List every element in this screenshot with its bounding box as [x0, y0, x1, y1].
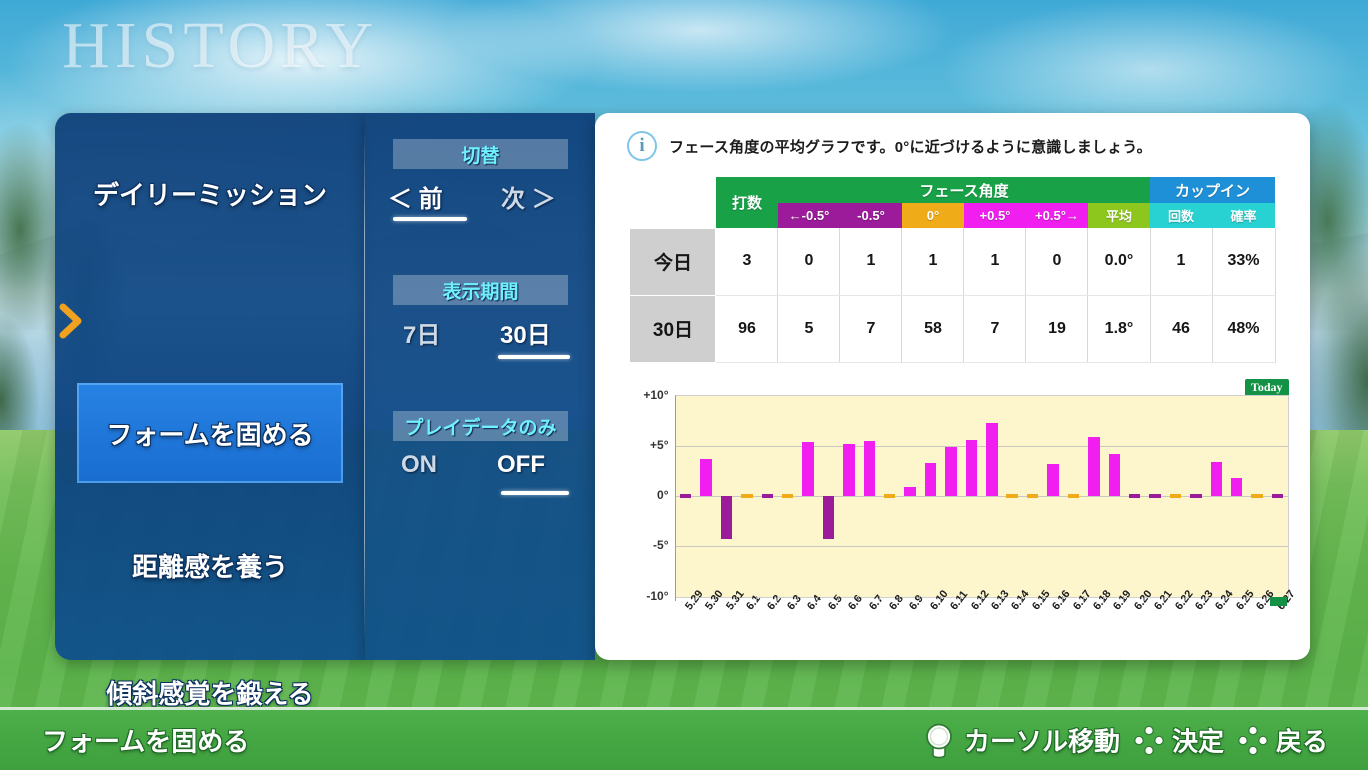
- switch-header: 切替: [393, 139, 568, 169]
- sidebar-item-form[interactable]: フォームを固める: [77, 383, 343, 483]
- table-row: 30日 96 5 7 58 7 19 1.8° 46 48%: [630, 295, 1275, 362]
- switch-options: ＜ 前 次 ＞: [385, 179, 575, 221]
- switch-prev-button[interactable]: ＜ 前: [388, 179, 443, 214]
- playdata-header: プレイデータのみ: [393, 411, 568, 441]
- chart-y-tick-label: -5°: [617, 538, 669, 552]
- sidebar-item-label: 距離感を養う: [132, 547, 288, 584]
- chart-x-tick: [715, 596, 716, 601]
- abxy-buttons-icon: [1134, 725, 1164, 755]
- chart-bar: [1129, 494, 1140, 499]
- chart-bar-slot: [1104, 396, 1124, 597]
- chart-bar-slot: [900, 396, 920, 597]
- sidebar-heading: デイリーミッション: [55, 175, 365, 212]
- chart-bar: [782, 494, 793, 499]
- chart-bar-slot: [696, 396, 716, 597]
- chart-x-tick: [838, 596, 839, 601]
- chart-bar-slot: [839, 396, 859, 597]
- chart-y-tick-label: -10°: [617, 589, 669, 603]
- chart-x-tick: [1266, 596, 1267, 601]
- cell-30d-rate: 48%: [1212, 295, 1275, 362]
- chart-x-tick: [981, 596, 982, 601]
- chart-bar: [1088, 437, 1099, 496]
- chart-x-tick: [1001, 596, 1002, 601]
- period-header: 表示期間: [393, 275, 568, 305]
- chart-bar: [1211, 462, 1222, 496]
- chart-x-tick: [777, 596, 778, 601]
- chart-x-tick: [1225, 596, 1226, 601]
- cell-30d-plus-half: 7: [964, 295, 1026, 362]
- chart-x-tick: [1144, 596, 1145, 601]
- hint-confirm[interactable]: 決定: [1134, 722, 1224, 759]
- chart-bar: [1047, 464, 1058, 496]
- chart-bar: [966, 440, 977, 496]
- chart-x-tick: [1062, 596, 1063, 601]
- chart-x-tick: [1205, 596, 1206, 601]
- bottom-hint-bar: フォームを固める カーソル移動 決定: [0, 707, 1368, 770]
- chart-x-tick: [960, 596, 961, 601]
- chart-x-tick: [695, 596, 696, 601]
- col-header-minus-half: -0.5°: [840, 203, 902, 228]
- chart-x-tick: [1246, 596, 1247, 601]
- period-options: 7日 30日: [385, 315, 575, 357]
- chart-bar: [721, 496, 732, 539]
- cell-30d-count: 46: [1150, 295, 1212, 362]
- chart-bar-slot: [982, 396, 1002, 597]
- hint-label: 戻る: [1276, 722, 1328, 759]
- switch-next-button[interactable]: 次 ＞: [501, 179, 556, 214]
- chart-x-tick: [858, 596, 859, 601]
- cell-today-minus-half: 1: [840, 228, 902, 295]
- chart-bars: [676, 396, 1288, 597]
- row-header-30days: 30日: [630, 295, 716, 362]
- chart-bar: [843, 444, 854, 496]
- chart-bar-slot: [778, 396, 798, 597]
- chevron-right-icon: [58, 303, 84, 339]
- chart-x-tick: [940, 596, 941, 601]
- sidebar-item-label: フォームを固める: [106, 415, 313, 452]
- cell-today-average: 0.0°: [1088, 228, 1150, 295]
- chart-x-tick: [736, 596, 737, 601]
- chart-bar: [1231, 478, 1242, 496]
- chart-bar: [925, 463, 936, 496]
- chart-bar: [700, 459, 711, 496]
- table-row: 今日 3 0 1 1 1 0 0.0° 1 33%: [630, 228, 1275, 295]
- cell-30d-average: 1.8°: [1088, 295, 1150, 362]
- chart-x-tick: [756, 596, 757, 601]
- chart-bar-slot: [1084, 396, 1104, 597]
- chart-bar-slot: [716, 396, 736, 597]
- chart-bar: [884, 494, 895, 499]
- chart-bar: [864, 441, 875, 496]
- info-banner-text: フェース角度の平均グラフです。0°に近づけるように意識しましょう。: [669, 136, 1152, 157]
- chart-y-tick-label: +5°: [617, 438, 669, 452]
- chart-bar: [1027, 494, 1038, 499]
- chart-bar-slot: [859, 396, 879, 597]
- col-header-plus-open: +0.5°→: [1026, 203, 1088, 228]
- context-label: フォームを固める: [42, 722, 249, 759]
- chart-x-tick: [879, 596, 880, 601]
- chart-bar: [1006, 494, 1017, 499]
- col-header-average: 平均: [1088, 203, 1150, 228]
- chart-bar: [986, 423, 997, 496]
- chart-bar-slot: [1247, 396, 1267, 597]
- button-hints: カーソル移動 決定 戻る: [922, 722, 1328, 759]
- chart-bar: [741, 494, 752, 499]
- col-header-zero: 0°: [902, 203, 964, 228]
- col-header-shots: 打数: [716, 177, 778, 228]
- chart-bar-slot: [1022, 396, 1042, 597]
- abxy-buttons-icon: [1238, 725, 1268, 755]
- chart-bar-slot: [941, 396, 961, 597]
- chart-bar-slot: [920, 396, 940, 597]
- chart-bar: [762, 494, 773, 499]
- chart-x-tick: [1103, 596, 1104, 601]
- chart-bar-slot: [1226, 396, 1246, 597]
- col-group-cup-in: カップイン: [1150, 177, 1275, 203]
- cell-today-minus-open: 0: [778, 228, 840, 295]
- info-banner: i フェース角度の平均グラフです。0°に近づけるように意識しましょう。: [613, 129, 1292, 163]
- chart-bar-slot: [961, 396, 981, 597]
- chart-x-tick: [1021, 596, 1022, 601]
- playdata-option-off[interactable]: OFF: [497, 451, 545, 479]
- chart-x-tick: [817, 596, 818, 601]
- face-angle-table: 打数 フェース角度 カップイン ←-0.5° -0.5° 0° +0.5° +0…: [629, 177, 1275, 363]
- chart-bar-slot: [798, 396, 818, 597]
- row-header-today: 今日: [630, 228, 716, 295]
- chart-bar-slot: [880, 396, 900, 597]
- col-header-count: 回数: [1150, 203, 1212, 228]
- cell-today-plus-half: 1: [964, 228, 1026, 295]
- cell-today-count: 1: [1150, 228, 1212, 295]
- chart-bar-slot: [1145, 396, 1165, 597]
- chart-x-tick: [919, 596, 920, 601]
- chart-bar: [945, 447, 956, 496]
- cell-today-zero: 1: [902, 228, 964, 295]
- cell-today-rate: 33%: [1212, 228, 1275, 295]
- chart-bar-slot: [676, 396, 696, 597]
- chart-bar-slot: [1267, 396, 1287, 597]
- cell-30d-shots: 96: [716, 295, 778, 362]
- chart-x-tick: [797, 596, 798, 601]
- cell-30d-plus-open: 19: [1026, 295, 1088, 362]
- chart-x-tick: [675, 596, 676, 601]
- chart-bar-slot: [1043, 396, 1063, 597]
- hint-back[interactable]: 戻る: [1238, 722, 1328, 759]
- chart-bar-slot: [737, 396, 757, 597]
- chart-x-tick: [1185, 596, 1186, 601]
- chart-bar-slot: [818, 396, 838, 597]
- cell-today-plus-open: 0: [1026, 228, 1088, 295]
- hint-cursor-move[interactable]: カーソル移動: [922, 722, 1120, 759]
- col-header-plus-half: +0.5°: [964, 203, 1026, 228]
- chart-plot-area: [675, 395, 1289, 598]
- chart-bar: [904, 487, 915, 496]
- table-corner-cell: [630, 177, 716, 203]
- cell-30d-zero: 58: [902, 295, 964, 362]
- info-icon: i: [627, 131, 657, 161]
- chart-x-tick: [1123, 596, 1124, 601]
- sidebar-item-distance[interactable]: 距離感を養う: [55, 515, 365, 615]
- chart-y-tick-label: +10°: [617, 388, 669, 402]
- chart-bar-slot: [1165, 396, 1185, 597]
- chart-bar-slot: [1186, 396, 1206, 597]
- period-option-7days[interactable]: 7日: [403, 315, 440, 350]
- chart-x-tick: [1083, 596, 1084, 601]
- panel-divider: [364, 129, 365, 641]
- cell-30d-minus-half: 7: [840, 295, 902, 362]
- today-marker-icon: [1270, 597, 1287, 606]
- chart-bar-slot: [1063, 396, 1083, 597]
- col-header-rate: 確率: [1212, 203, 1275, 228]
- page-title: HISTORY: [62, 8, 378, 84]
- chart-x-tick: [899, 596, 900, 601]
- left-stick-icon: [922, 722, 956, 758]
- chart-y-tick-label: 0°: [617, 488, 669, 502]
- chart-bar: [823, 496, 834, 539]
- chart-bar: [1272, 494, 1283, 499]
- chart-bar: [1109, 454, 1120, 496]
- playdata-options: ON OFF: [385, 451, 575, 493]
- cell-today-shots: 3: [716, 228, 778, 295]
- chart-bar: [680, 494, 691, 499]
- playdata-option-on[interactable]: ON: [401, 451, 437, 479]
- chart-x-tick: [1042, 596, 1043, 601]
- chart-bar: [1068, 494, 1079, 499]
- col-header-minus-open: ←-0.5°: [778, 203, 840, 228]
- chart-bar-slot: [1002, 396, 1022, 597]
- period-option-30days[interactable]: 30日: [500, 315, 551, 350]
- sidebar-item-label: 傾斜感覚を鍛える: [106, 674, 313, 711]
- stats-card: i フェース角度の平均グラフです。0°に近づけるように意識しましょう。 打数 フ…: [595, 113, 1310, 660]
- hint-label: カーソル移動: [964, 722, 1120, 759]
- chart-bar-slot: [757, 396, 777, 597]
- cell-30d-minus-open: 5: [778, 295, 840, 362]
- chart-x-tick: [1164, 596, 1165, 601]
- playdata-active-underline: [501, 491, 569, 495]
- period-active-underline: [498, 355, 570, 359]
- col-group-face-angle: フェース角度: [778, 177, 1150, 203]
- table-group-header-row: 打数 フェース角度 カップイン: [630, 177, 1275, 203]
- hint-label: 決定: [1172, 722, 1224, 759]
- chart-bar: [1251, 494, 1262, 499]
- mission-sidebar: デイリーミッション フォームを固める 距離感を養う 傾斜感覚を鍛える: [55, 113, 365, 660]
- face-angle-chart: Today +10°+5°0°-5°-10° 5.295.305.316.16.…: [617, 379, 1289, 629]
- table-corner-cell-2: [630, 203, 716, 228]
- chart-bar-slot: [1206, 396, 1226, 597]
- chart-bar: [1190, 494, 1201, 499]
- chart-bar: [802, 442, 813, 496]
- chart-bar: [1170, 494, 1181, 499]
- chart-bar-slot: [1124, 396, 1144, 597]
- chart-bar: [1149, 494, 1160, 499]
- filter-controls-panel: 切替 ＜ 前 次 ＞ 表示期間 7日 30日 プレイデータのみ ON OFF: [365, 113, 595, 660]
- switch-active-underline: [393, 217, 467, 221]
